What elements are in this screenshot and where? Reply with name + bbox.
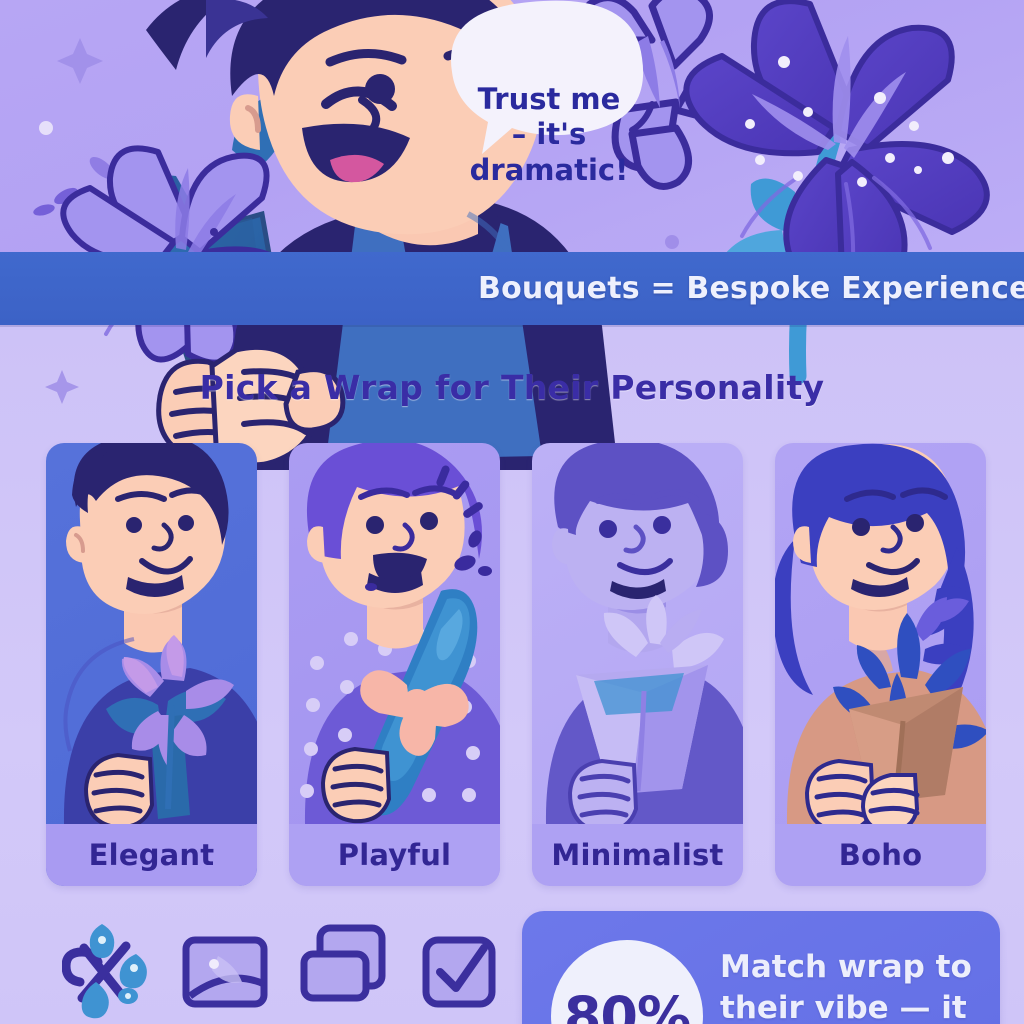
checkbox-checked-icon — [416, 920, 508, 1020]
speech-line-2: – it's — [444, 117, 654, 152]
stat-line-1: Match wrap to — [720, 947, 988, 988]
speech-line-1: Trust me — [444, 82, 654, 117]
wrap-card-elegant[interactable]: Elegant — [46, 443, 257, 886]
banner-bar: Bouquets = Bespoke Experiences — [0, 252, 1024, 325]
stat-card: 80% Match wrap to their vibe — it — [522, 911, 1000, 1024]
card-art-elegant — [46, 443, 257, 824]
card-art-playful — [289, 443, 500, 824]
speech-bubble-text: Trust me – it's dramatic! — [444, 82, 654, 188]
card-label-elegant: Elegant — [46, 824, 257, 886]
scissors-confetti-icon — [62, 920, 154, 1020]
card-art-boho — [775, 443, 986, 824]
infographic-canvas: Trust me – it's dramatic! Bouquets = Bes… — [0, 0, 1024, 1024]
wrap-card-minimalist[interactable]: Minimalist — [532, 443, 743, 886]
page-title: Pick a Wrap for Their Personality — [0, 368, 1024, 407]
speech-line-3: dramatic! — [444, 153, 654, 188]
stat-badge: 80% — [551, 940, 703, 1024]
banner-label: Bouquets = Bespoke Experiences — [478, 252, 1018, 325]
stat-value: 80% — [564, 985, 690, 1024]
wrapping-paper-icon — [180, 920, 272, 1020]
stat-description: Match wrap to their vibe — it — [720, 947, 988, 1024]
card-art-minimalist — [532, 443, 743, 824]
wrap-card-boho[interactable]: Boho — [775, 443, 986, 886]
card-label-minimalist: Minimalist — [532, 824, 743, 886]
wrap-card-playful[interactable]: Playful — [289, 443, 500, 886]
wrap-style-card-grid: Elegant — [46, 443, 986, 886]
stat-line-2: their vibe — it — [720, 988, 988, 1024]
stacked-cards-icon — [298, 920, 390, 1020]
supply-icon-row — [62, 915, 502, 1024]
card-label-playful: Playful — [289, 824, 500, 886]
card-label-boho: Boho — [775, 824, 986, 886]
